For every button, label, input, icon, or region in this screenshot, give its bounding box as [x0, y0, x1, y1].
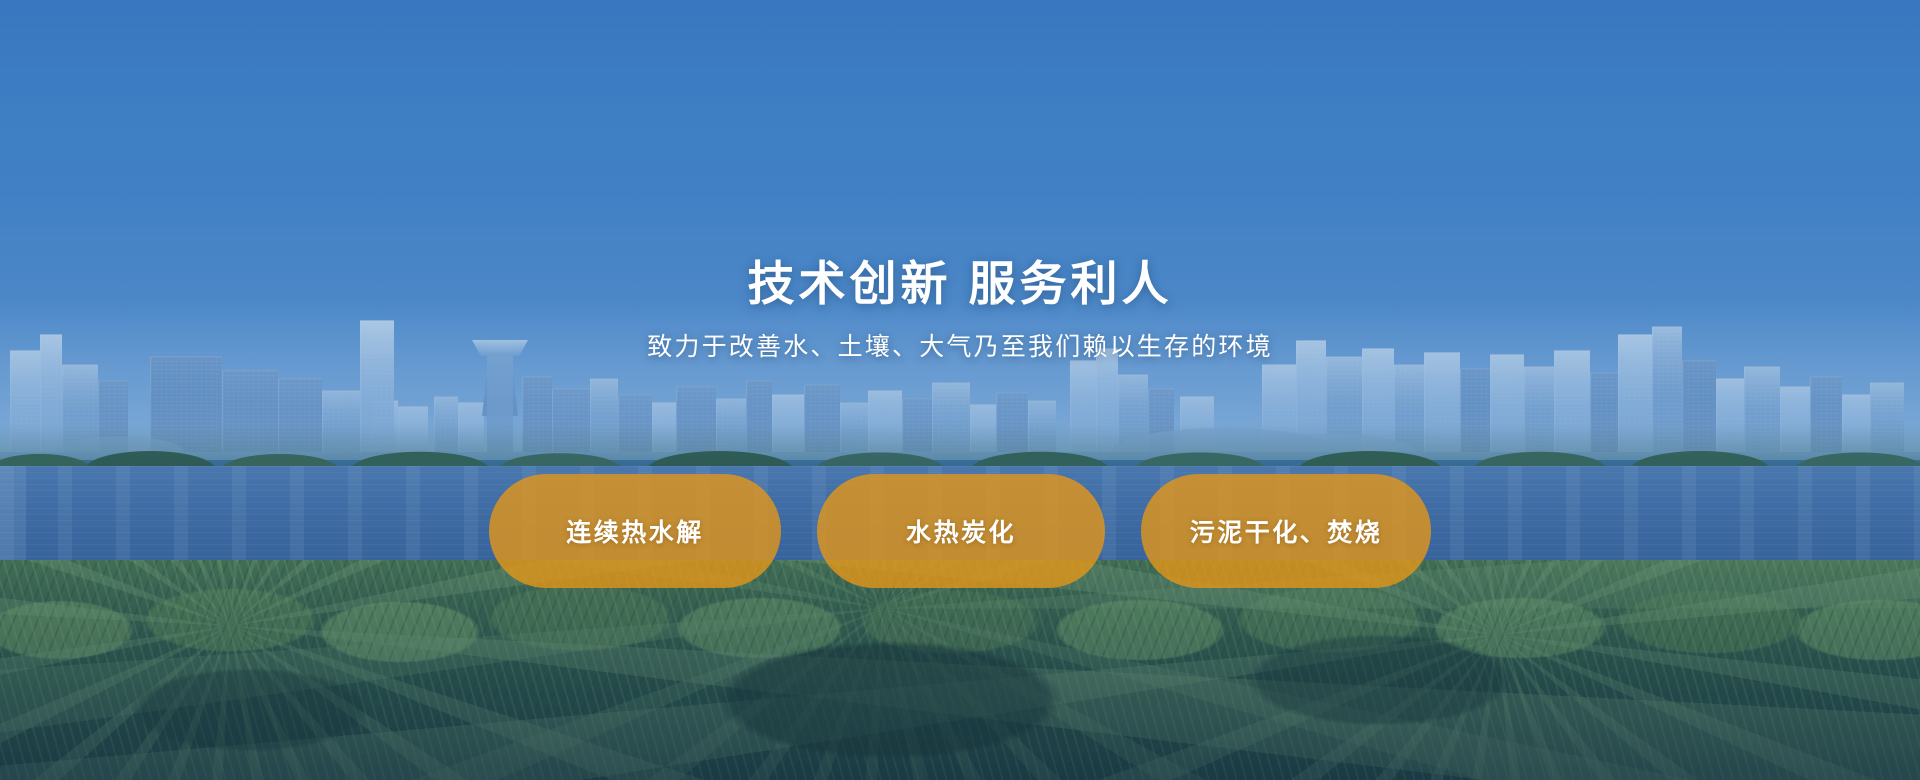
hero-banner: 技术创新 服务利人 致力于改善水、土壤、大气乃至我们赖以生存的环境 连续热水解 … [0, 0, 1920, 780]
service-button-hydrothermal-carbonization[interactable]: 水热炭化 [817, 474, 1105, 588]
foreground-vegetation [0, 560, 1920, 780]
service-button-row: 连续热水解 水热炭化 污泥干化、焚烧 [0, 474, 1920, 588]
service-button-continuous-thermal-hydrolysis[interactable]: 连续热水解 [489, 474, 781, 588]
service-button-sludge-drying-incineration[interactable]: 污泥干化、焚烧 [1141, 474, 1431, 588]
mid-treeline [0, 424, 1920, 470]
